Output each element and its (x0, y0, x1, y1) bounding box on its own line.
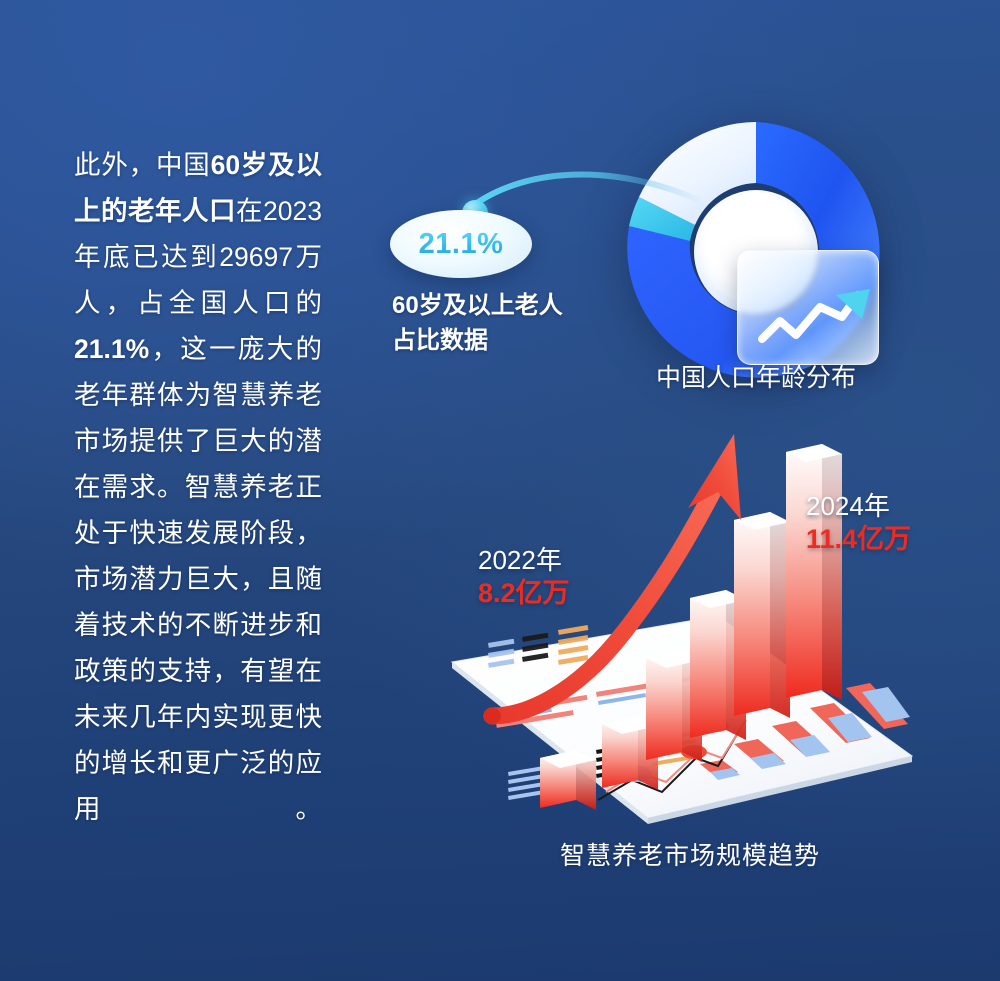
donut-caption: 中国人口年龄分布 (616, 360, 896, 396)
percent-badge: 21.1% (390, 210, 532, 278)
annotation-2022: 2022年 8.2亿万 (478, 544, 570, 610)
annotation-2022-value: 8.2亿万 (478, 576, 570, 610)
annotation-2024-year: 2024年 (806, 490, 911, 522)
annotation-2022-year: 2022年 (478, 544, 570, 576)
paragraph-segment-plain-3: ，这一庞大的老年群体为智慧养老市场提供了巨大的潜在需求。智慧养老正处于快速发展阶… (74, 334, 322, 824)
bar-column (540, 750, 596, 810)
callout-label-line1: 60岁及以上老人 (392, 288, 622, 323)
callout-label-line2: 占比数据 (392, 323, 622, 358)
annotation-2024: 2024年 11.4亿万 (806, 490, 911, 556)
market-size-bar-chart (400, 420, 980, 840)
rising-trend-card-icon (737, 250, 879, 365)
paragraph-segment-bold-2: 21.1% (74, 334, 149, 364)
callout-label: 60岁及以上老人 占比数据 (392, 288, 622, 358)
paragraph-segment-plain-1: 此外，中国 (74, 150, 211, 180)
article-paragraph: 此外，中国60岁及以上的老年人口在2023年底已达到29697万人，占全国人口的… (74, 142, 322, 832)
bar-column (786, 444, 842, 700)
bar-chart-caption: 智慧养老市场规模趋势 (450, 838, 930, 874)
bar-column (734, 512, 790, 718)
annotation-2024-value: 11.4亿万 (806, 522, 911, 556)
percent-value: 21.1% (419, 228, 504, 261)
infographic-poster: 此外，中国60岁及以上的老年人口在2023年底已达到29697万人，占全国人口的… (0, 0, 1000, 981)
